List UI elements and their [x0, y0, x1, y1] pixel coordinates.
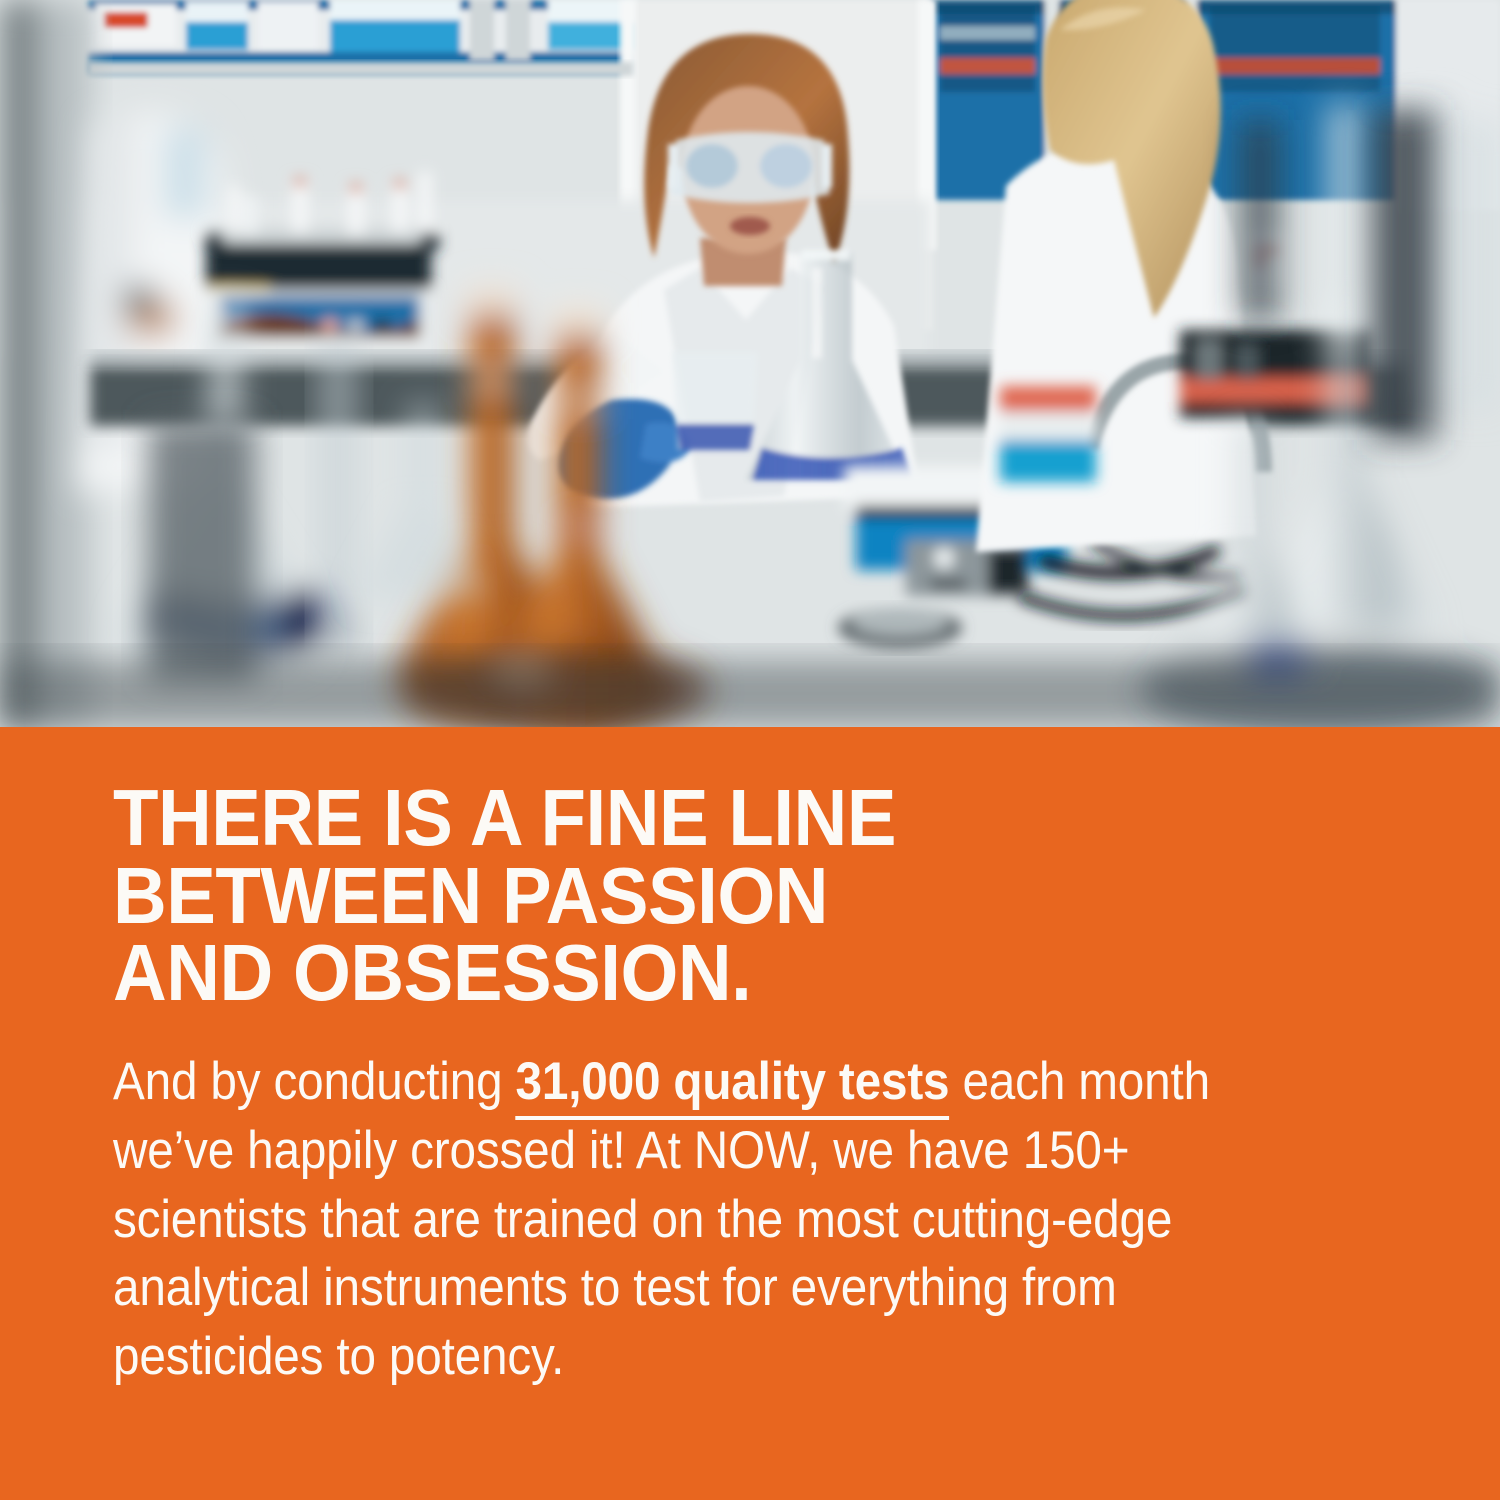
- foreground-dark-column: [148, 420, 256, 680]
- lab-photo: 500: [0, 0, 1500, 727]
- safety-goggles: [668, 132, 832, 203]
- door-frame: [0, 0, 90, 727]
- body-lead: And by conducting: [113, 1052, 515, 1111]
- petri-dish: [838, 608, 962, 648]
- graduated-cylinder-left: [316, 330, 362, 650]
- body-copy: And by conducting 31,000 quality tests e…: [113, 1012, 1283, 1392]
- headline: THERE IS A FINE LINE BETWEEN PASSION AND…: [113, 779, 1322, 1012]
- orange-text-panel: THERE IS A FINE LINE BETWEEN PASSION AND…: [0, 727, 1500, 1500]
- lab-photo-illustration: 500: [0, 0, 1500, 727]
- marketing-poster: 500: [0, 0, 1500, 1500]
- stat-highlight: 31,000 quality tests: [515, 1052, 949, 1120]
- beaker: [672, 352, 758, 450]
- panel-content: THERE IS A FINE LINE BETWEEN PASSION AND…: [113, 779, 1413, 1392]
